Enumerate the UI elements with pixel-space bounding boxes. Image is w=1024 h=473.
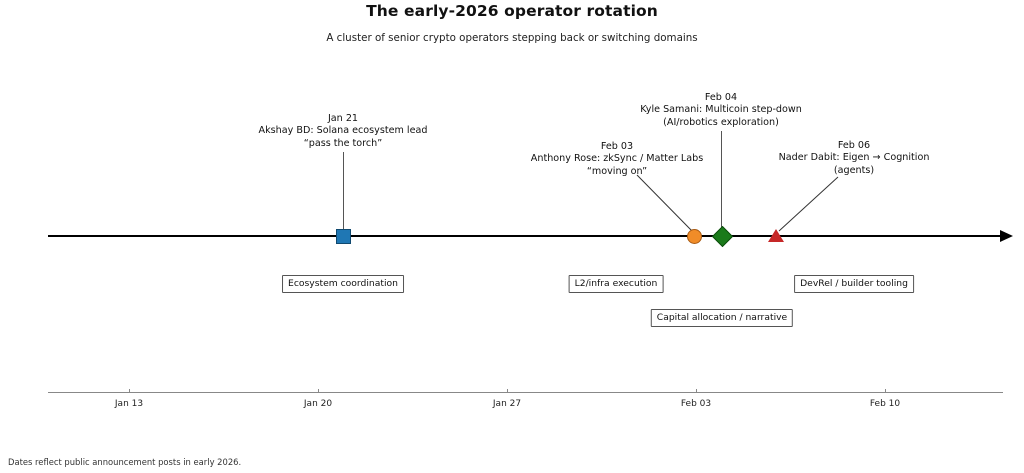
date-axis-label: Jan 27 [493, 399, 521, 409]
footnote: Dates reflect public announcement posts … [8, 457, 241, 467]
annotation-quote: (agents) [779, 165, 930, 177]
category-badge-devrel-builder-tooling: DevRel / builder tooling [794, 275, 914, 293]
date-axis-line [48, 392, 1003, 393]
category-badge-ecosystem-coordination: Ecosystem coordination [282, 275, 404, 293]
date-axis-label: Jan 20 [304, 399, 332, 409]
timeline-chart: The early-2026 operator rotation A clust… [0, 0, 1024, 473]
date-axis-label: Jan 13 [115, 399, 143, 409]
date-axis-label: Feb 10 [870, 399, 900, 409]
date-axis-tick [318, 389, 319, 393]
annotation-person: Nader Dabit: Eigen → Cognition [779, 152, 930, 164]
date-axis-label: Feb 03 [681, 399, 711, 409]
annotation-event-4: Feb 06 Nader Dabit: Eigen → Cognition (a… [779, 140, 930, 177]
annotation-date: Feb 06 [779, 140, 930, 152]
category-badge-capital-allocation-narrative: Capital allocation / narrative [651, 309, 793, 327]
date-axis-tick [696, 389, 697, 393]
category-badge-l2-infra-execution: L2/infra execution [569, 275, 664, 293]
timeline-marker-triangle[interactable] [768, 229, 784, 242]
date-axis-tick [885, 389, 886, 393]
date-axis-tick [507, 389, 508, 393]
date-axis-tick [129, 389, 130, 393]
